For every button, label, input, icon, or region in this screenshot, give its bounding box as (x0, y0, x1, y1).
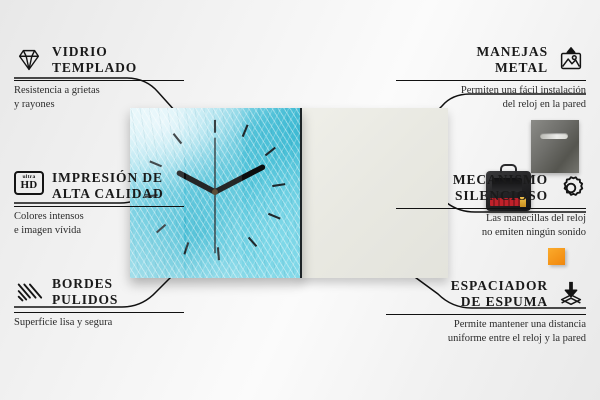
feature-description: Superficie lisa y segura (14, 316, 184, 330)
feature-title: BORDES PULIDOS (52, 276, 118, 308)
feature-divider (396, 208, 586, 210)
diagonal-lines-icon (14, 277, 44, 307)
feature-description: Las manecillas del reloj no emiten ningú… (396, 212, 586, 240)
gear-icon (556, 173, 586, 203)
ultra-hd-icon: ultra HD (14, 171, 44, 201)
picture-hanger-icon (556, 45, 586, 75)
feature-divider (396, 80, 586, 82)
feature-description: Permiten una fácil instalación del reloj… (396, 84, 586, 112)
feature-heading-row: ESPACIADOR DE ESPUMA (386, 278, 586, 310)
hour-hand (179, 173, 215, 192)
feature-divider (386, 314, 586, 316)
feature-title: VIDRIO TEMPLADO (52, 44, 137, 76)
feature-description: Colores intensos e imagen vívida (14, 210, 184, 238)
feature-description: Resistencia a grietas y rayones (14, 84, 184, 112)
diamond-icon (14, 45, 44, 75)
hanger-slot (540, 133, 568, 139)
minute-hand (215, 167, 262, 192)
feature-espaciador-espuma: ESPACIADOR DE ESPUMA Permite mantener un… (386, 278, 586, 346)
arrow-onto-layers-icon (556, 279, 586, 309)
feature-description: Permite mantener una distancia uniforme … (386, 318, 586, 346)
metal-hanger-plate (531, 120, 579, 173)
feature-heading-row: VIDRIO TEMPLADO (14, 44, 184, 76)
ultra-hd-box: ultra HD (14, 171, 44, 195)
feature-heading-row: MECANISMO SILENCIOSO (396, 172, 586, 204)
clock-center-cap (212, 189, 218, 195)
feature-title: ESPACIADOR DE ESPUMA (451, 278, 548, 310)
feature-divider (14, 80, 184, 82)
feature-title: MECANISMO SILENCIOSO (453, 172, 548, 204)
feature-divider (14, 206, 184, 208)
feature-vidrio-templado: VIDRIO TEMPLADO Resistencia a grietas y … (14, 44, 184, 112)
infographic-canvas: VIDRIO TEMPLADO Resistencia a grietas y … (0, 0, 600, 400)
feature-title: MANEJAS METAL (476, 44, 548, 76)
feature-impresion-alta-calidad: ultra HD IMPRESIÓN DE ALTA CALIDAD Color… (14, 170, 184, 238)
feature-heading-row: MANEJAS METAL (396, 44, 586, 76)
feature-title: IMPRESIÓN DE ALTA CALIDAD (52, 170, 164, 202)
foam-spacer-pad (548, 248, 565, 265)
feature-mecanismo-silencioso: MECANISMO SILENCIOSO Las manecillas del … (396, 172, 586, 240)
feature-bordes-pulidos: BORDES PULIDOS Superficie lisa y segura (14, 276, 184, 330)
feature-heading-row: ultra HD IMPRESIÓN DE ALTA CALIDAD (14, 170, 184, 202)
feature-manejas-metal: MANEJAS METAL Permiten una fácil instala… (396, 44, 586, 112)
feature-divider (14, 312, 184, 314)
feature-heading-row: BORDES PULIDOS (14, 276, 184, 308)
